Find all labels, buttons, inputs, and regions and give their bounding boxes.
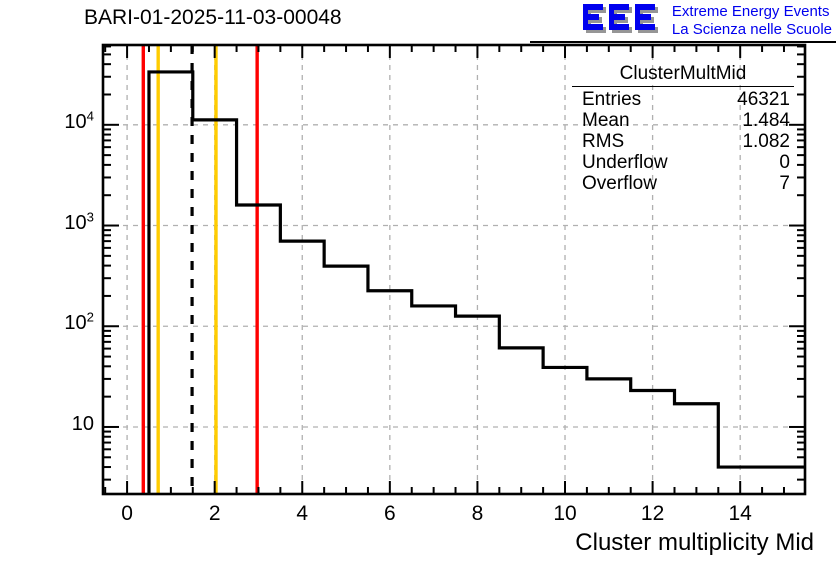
stats-row-label: RMS xyxy=(582,131,624,152)
stats-row: Underflow0 xyxy=(572,152,794,173)
stats-row: Entries46321 xyxy=(572,89,794,110)
stats-box-rows: Entries46321Mean1.484RMS1.082Underflow0O… xyxy=(572,89,794,194)
y-axis-tick-label: 104 xyxy=(64,111,94,134)
x-axis-tick-label: 2 xyxy=(185,502,245,526)
x-axis-title: Cluster multiplicity Mid xyxy=(575,529,814,557)
stats-row-label: Mean xyxy=(582,110,630,131)
stats-row: Overflow7 xyxy=(572,173,794,194)
y-axis-tick-label: 102 xyxy=(64,312,94,335)
x-axis-tick-label: 14 xyxy=(710,502,770,526)
x-axis-tick-label: 12 xyxy=(623,502,683,526)
x-axis-tick-label: 6 xyxy=(360,502,420,526)
root-canvas: BARI-01-2025-11-03-00048 xyxy=(0,0,836,572)
marker-lines xyxy=(143,45,257,494)
stats-row: Mean1.484 xyxy=(572,110,794,131)
y-axis-tick-label: 103 xyxy=(64,212,94,235)
x-axis-tick-label: 0 xyxy=(97,502,157,526)
stats-row-label: Underflow xyxy=(582,152,668,173)
stats-row-value: 46321 xyxy=(737,89,790,110)
stats-row-value: 1.082 xyxy=(742,131,790,152)
y-axis-tick-label: 10 xyxy=(72,413,94,436)
stats-row-value: 7 xyxy=(779,173,790,194)
x-axis-tick-label: 4 xyxy=(272,502,332,526)
stats-row-value: 0 xyxy=(779,152,790,173)
stats-box: ClusterMultMid Entries46321Mean1.484RMS1… xyxy=(572,63,794,194)
x-axis-tick-label: 10 xyxy=(535,502,595,526)
stats-row: RMS1.082 xyxy=(572,131,794,152)
stats-row-label: Overflow xyxy=(582,173,657,194)
stats-row-label: Entries xyxy=(582,89,641,110)
stats-row-value: 1.484 xyxy=(742,110,790,131)
stats-box-title: ClusterMultMid xyxy=(572,63,794,87)
x-axis-tick-label: 8 xyxy=(447,502,507,526)
